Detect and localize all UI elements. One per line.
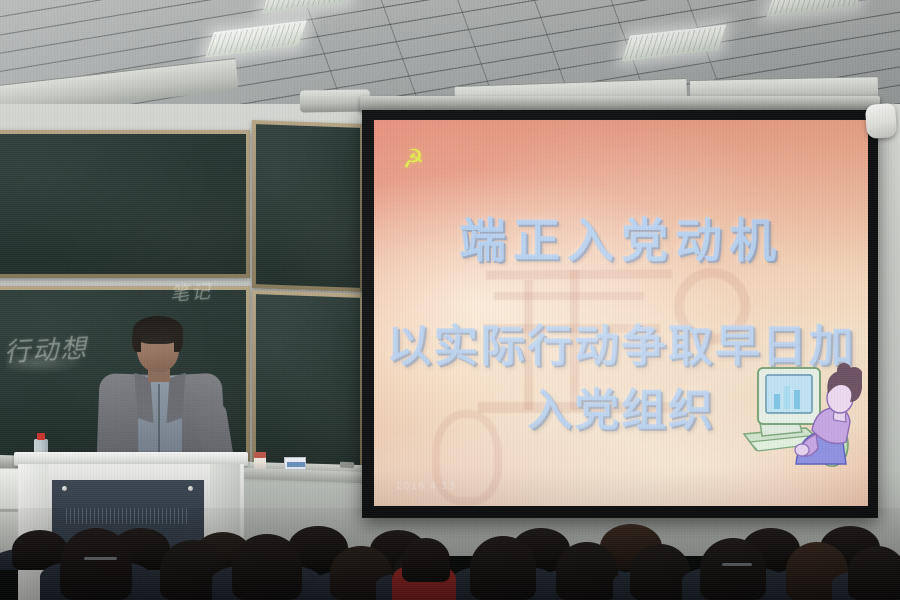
screw <box>188 486 193 491</box>
presenter <box>92 316 242 466</box>
cup-on-ledge[interactable] <box>254 452 266 469</box>
audience-head <box>556 542 618 600</box>
screw <box>62 486 67 491</box>
wall-mounted-speaker <box>865 103 897 139</box>
hair-side-right <box>174 328 183 352</box>
projection-screen: ☭ 端正入党动机 以实际行动争取早日加入党组织 2016.4.13 <box>362 110 878 518</box>
chalk-writing-upper: 笔记 <box>169 277 213 307</box>
classroom-photo: 笔记 行动想 Mural ☭ 端正入党动机 以实际行动争取早日加入党组织 201… <box>0 0 900 600</box>
hair-band <box>722 563 752 566</box>
audience-head <box>848 546 900 600</box>
chalkboard-upper-middle <box>252 120 364 292</box>
chalkboard-surface <box>0 134 246 274</box>
audience <box>0 508 900 600</box>
audience-head <box>700 538 766 600</box>
audience-head <box>60 528 132 600</box>
lectern-panel-screws <box>52 486 204 492</box>
audience-head <box>630 544 690 600</box>
board-eraser[interactable] <box>340 462 354 468</box>
audience-head <box>470 536 536 600</box>
bottle-cap <box>37 433 45 440</box>
hair-band <box>84 557 117 560</box>
hair-side-left <box>132 328 141 352</box>
chalkboard-surface <box>256 294 360 470</box>
audience-head <box>402 538 450 582</box>
slide-surface: ☭ 端正入党动机 以实际行动争取早日加入党组织 2016.4.13 <box>374 120 868 506</box>
chalkboard-lower-middle <box>252 290 364 474</box>
audience-head <box>232 534 302 600</box>
chalkboard-upper-left <box>0 130 250 278</box>
slide-light-vignette <box>374 120 868 506</box>
chalkboard-surface <box>256 124 360 288</box>
chalk-box[interactable] <box>284 457 306 470</box>
chalk-smudge <box>6 352 86 374</box>
